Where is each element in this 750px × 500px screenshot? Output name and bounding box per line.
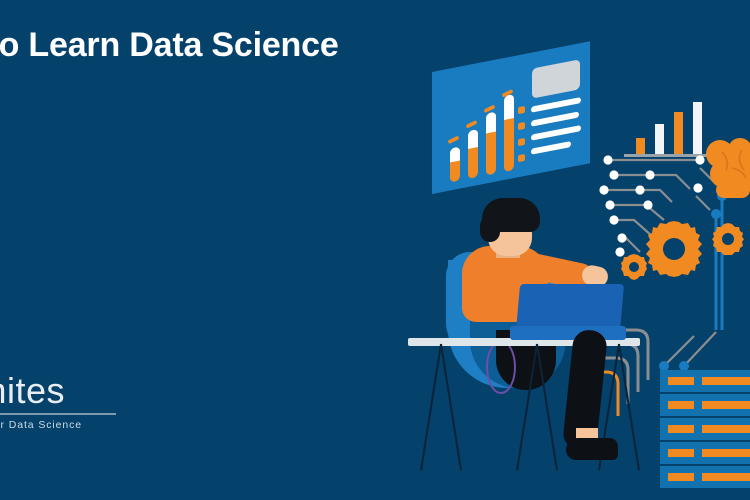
person-working-on-laptop xyxy=(400,180,700,500)
server-rack-row xyxy=(660,418,750,442)
purple-cable xyxy=(486,340,516,394)
logo-tagline: titute for Data Science xyxy=(0,419,176,431)
server-rack-row xyxy=(660,442,750,466)
logo-divider xyxy=(0,413,116,415)
logo-wordmark: amites xyxy=(0,372,176,410)
server-rack-row xyxy=(660,466,750,490)
brain-icon xyxy=(706,138,750,212)
server-rack-row xyxy=(660,370,750,394)
brand-logo: amites titute for Data Science xyxy=(0,372,176,431)
server-rack xyxy=(660,370,750,498)
page-title: w to Learn Data Science xyxy=(0,26,339,65)
laptop-screen xyxy=(516,284,624,332)
gear-medium xyxy=(712,223,744,255)
person-shoe xyxy=(566,438,618,460)
person-hair-back xyxy=(480,216,500,242)
laptop-base xyxy=(510,326,626,340)
desk-leg-1 xyxy=(420,344,442,471)
desk-leg-6 xyxy=(618,344,640,471)
banner: w to Learn Data Science amites titute fo… xyxy=(0,0,750,500)
server-rack-row xyxy=(660,394,750,418)
